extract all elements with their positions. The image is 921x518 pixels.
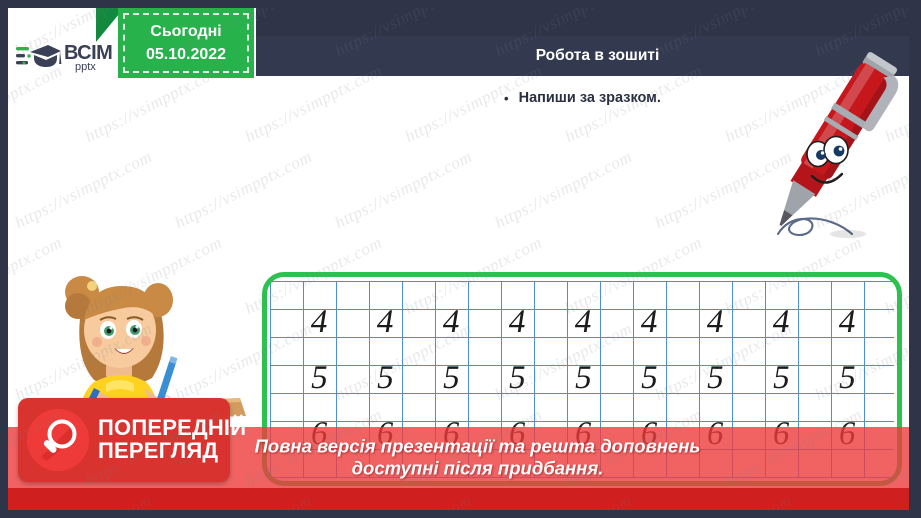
- handwritten-digit: 5: [441, 362, 463, 395]
- handwritten-digit: 4: [375, 306, 397, 339]
- slide-border-bottom: [0, 512, 921, 518]
- cartoon-pen-icon: [760, 38, 909, 253]
- slide-border-top: [0, 0, 921, 8]
- slide-border-left: [0, 0, 8, 518]
- preview-badge-line2: ПЕРЕГЛЯД: [98, 440, 246, 463]
- preview-badge[interactable]: ПОПЕРЕДНІЙ ПЕРЕГЛЯД: [18, 398, 230, 482]
- handwritten-digit: 4: [639, 306, 661, 339]
- handwritten-digit: 5: [705, 362, 727, 395]
- handwritten-digit: 4: [309, 306, 331, 339]
- brand-logo-text: ВСІМ pptx: [64, 43, 112, 73]
- handwritten-digit: 4: [441, 306, 463, 339]
- handwritten-digit: 5: [837, 362, 859, 395]
- slide-canvas: Робота в зошиті ВСІМ pptx Сьогодні 05.10…: [8, 8, 909, 510]
- today-date: 05.10.2022: [146, 43, 226, 66]
- graduation-cap-icon: [16, 38, 62, 78]
- handwritten-digit: 5: [573, 362, 595, 395]
- preview-badge-line1: ПОПЕРЕДНІЙ: [98, 417, 246, 440]
- watermark-text: https://vsimpptx.com: [332, 147, 476, 233]
- handwritten-digit: 4: [573, 306, 595, 339]
- magnifier-icon: [27, 409, 89, 471]
- watermark-text: https://vsimpptx.com: [492, 147, 636, 233]
- handwritten-digit: 4: [837, 306, 859, 339]
- today-label: Сьогодні: [150, 20, 221, 43]
- handwritten-digit: 5: [375, 362, 397, 395]
- today-date-badge: Сьогодні 05.10.2022: [118, 8, 254, 78]
- handwritten-digit: 5: [507, 362, 529, 395]
- instruction-text: Напиши за зразком.: [519, 90, 661, 106]
- bottom-red-bar: [8, 488, 909, 510]
- handwritten-digit: 4: [705, 306, 727, 339]
- slide-border-right: [909, 0, 921, 518]
- handwritten-digit: 5: [309, 362, 331, 395]
- handwritten-digit: 4: [507, 306, 529, 339]
- grid-hline: [270, 281, 894, 282]
- watermark-text: https://vsimpptx.com: [12, 147, 156, 233]
- handwritten-digit: 4: [771, 306, 793, 339]
- top-dark-strip: [256, 8, 909, 36]
- preview-badge-text: ПОПЕРЕДНІЙ ПЕРЕГЛЯД: [98, 417, 246, 463]
- handwritten-digit: 5: [639, 362, 661, 395]
- watermark-text: https://vsimpptx.com: [172, 147, 316, 233]
- bullet-dot: •: [504, 91, 509, 106]
- handwritten-digit: 5: [771, 362, 793, 395]
